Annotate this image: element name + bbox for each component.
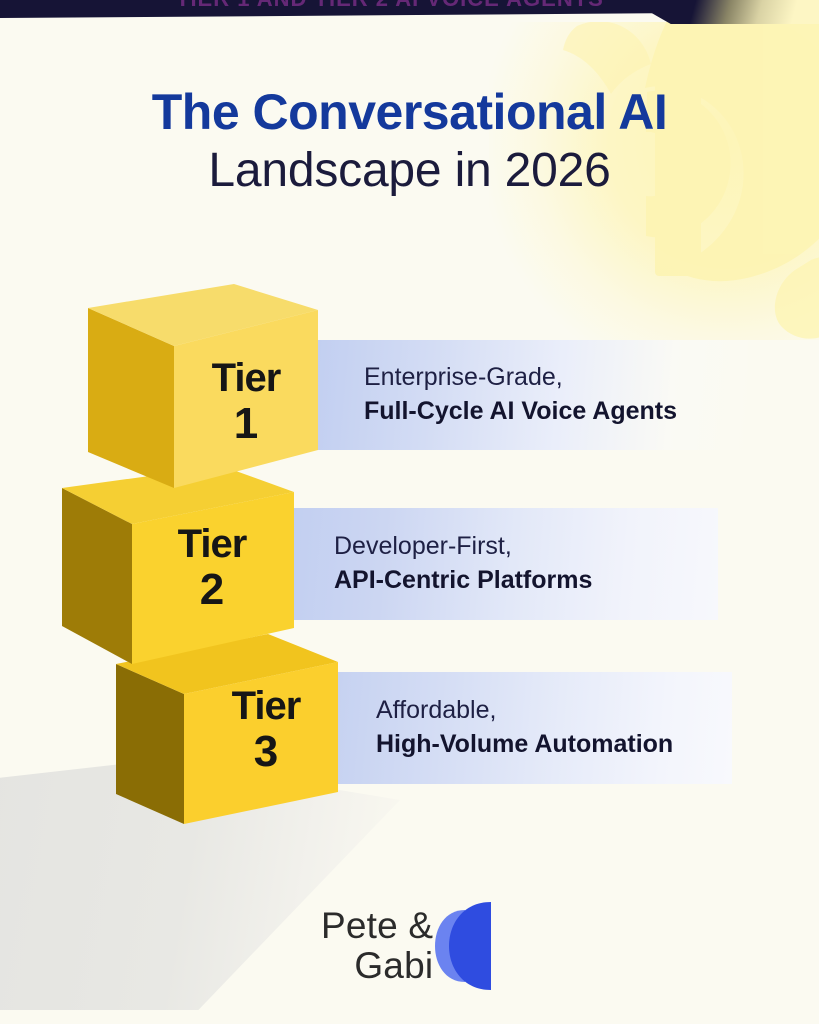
brand-logo-line-1: Pete &	[321, 906, 433, 946]
brand-logo-text: Pete & Gabi	[321, 906, 433, 986]
brand-logo-line-2: Gabi	[321, 946, 433, 986]
tier-3-label-panel: Affordable, High-Volume Automation	[338, 672, 732, 784]
tier-1-cube: Tier 1	[88, 284, 328, 494]
tier-1-label-light: Enterprise-Grade,	[364, 361, 748, 395]
brand-logo-mark-icon	[435, 900, 495, 992]
page-title: The Conversational AI Landscape in 2026	[0, 84, 819, 201]
page-title-line-1: The Conversational AI	[0, 84, 819, 140]
tier-2-label-bold: API-Centric Platforms	[334, 564, 718, 598]
tier-3-label-light: Affordable,	[376, 694, 732, 728]
tier-2-label-panel: Developer-First, API-Centric Platforms	[290, 508, 718, 620]
tier-1-label-bold: Full-Cycle AI Voice Agents	[364, 395, 748, 429]
tier-1-label-panel: Enterprise-Grade, Full-Cycle AI Voice Ag…	[318, 340, 748, 450]
tier-2-label-light: Developer-First,	[334, 530, 718, 564]
page-title-line-2: Landscape in 2026	[0, 140, 819, 201]
frame-top-strip-text: TIER 1 AND TIER 2 AI VOICE AGENTS	[176, 0, 604, 12]
tier-2-cube: Tier 2	[62, 466, 302, 666]
brand-logo[interactable]: Pete & Gabi	[321, 900, 495, 992]
tier-3-label-bold: High-Volume Automation	[376, 728, 732, 762]
